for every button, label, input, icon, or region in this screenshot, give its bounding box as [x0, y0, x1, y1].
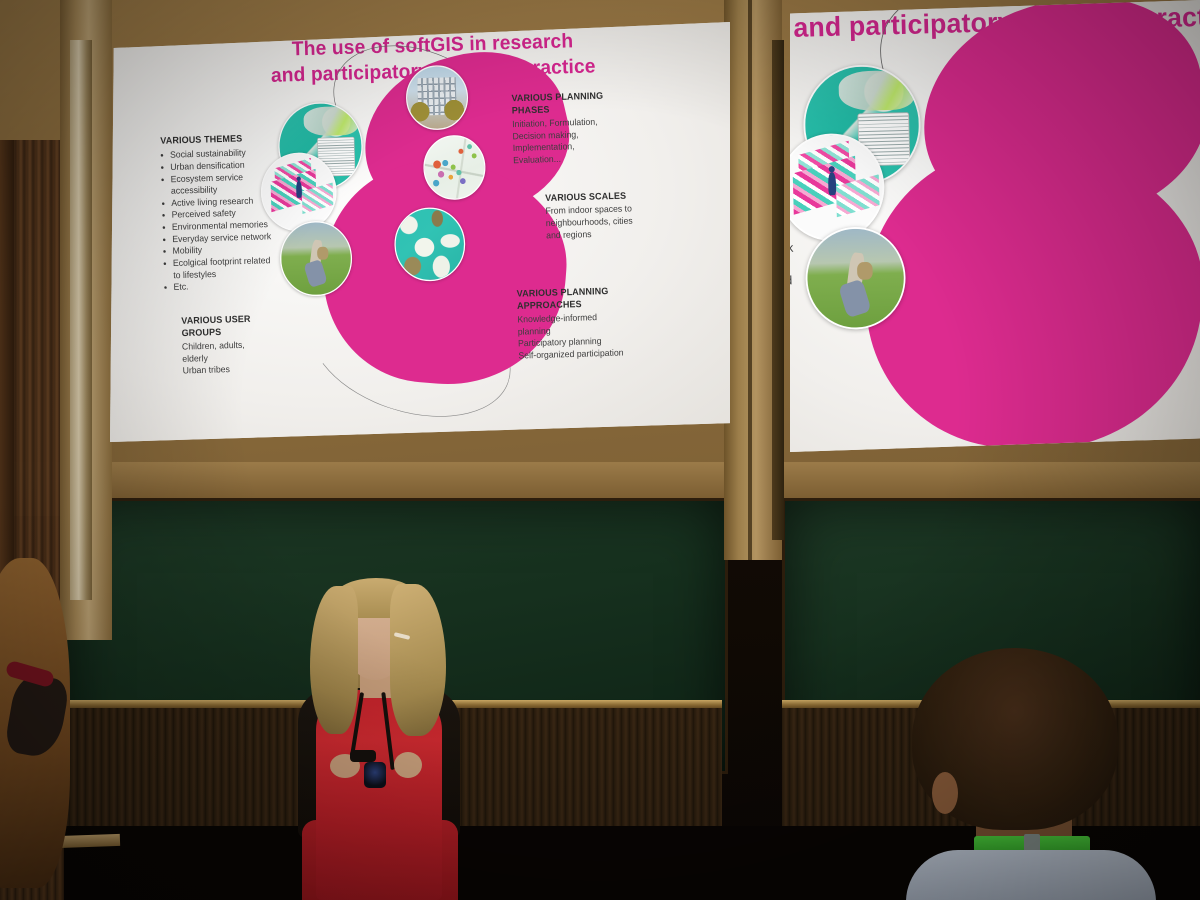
- block-various-themes: VARIOUS THEMES Social sustainability Urb…: [160, 132, 279, 293]
- tree-right: [443, 97, 465, 124]
- list-item: Ecosystem service accessibility: [170, 170, 276, 197]
- block-various-user-groups-right: VARIOUS USER GROUPS Children, adults, el…: [790, 351, 821, 439]
- block-various-scales: VARIOUS SCALES From indoor spaces to nei…: [545, 189, 670, 241]
- audience-member-foreground-right: [900, 648, 1160, 900]
- screen-right-surface: The use of softGIS in research and parti…: [790, 0, 1200, 452]
- slide-left: The use of softGIS in research and parti…: [113, 22, 730, 442]
- audience-member-foreground-left: [0, 558, 84, 900]
- scales-line: and regions: [546, 226, 670, 242]
- user-groups-line: Urban tribes: [182, 362, 291, 377]
- wood-panel-left-edge: [0, 140, 14, 620]
- block-various-planning-approaches: VARIOUS PLANNING APPROACHES Knowledge-in…: [517, 284, 671, 362]
- wall-column-left-trim: [70, 40, 92, 600]
- list-item: Ecosystem service accessibility: [790, 157, 801, 194]
- presenter: [282, 576, 472, 900]
- user-groups-line-right: Urban tribes: [790, 419, 821, 440]
- projection-screen-right: The use of softGIS in research and parti…: [790, 0, 1200, 452]
- map-detail-right: [838, 70, 914, 111]
- point-cluster-main: [433, 157, 471, 189]
- tree-left: [410, 99, 431, 124]
- list-item: Etc.: [790, 304, 804, 324]
- map-detail: [303, 106, 358, 137]
- runner-legs-right: [838, 279, 872, 319]
- runner-bag: [317, 247, 328, 260]
- list-item: Ecolgical footprint related to lifestyle…: [173, 254, 279, 281]
- themes-list: Social sustainability Urban densificatio…: [161, 146, 280, 293]
- presenter-hair-left: [310, 586, 358, 734]
- block-various-planning-phases: VARIOUS PLANNING PHASES Initiation, Form…: [511, 89, 646, 166]
- runner-legs: [304, 259, 328, 288]
- presenter-badge: [364, 762, 386, 788]
- phases-line: Evaluation...: [513, 150, 647, 166]
- presenter-remote-clicker: [350, 750, 376, 762]
- wall-column-centre-groove: [748, 0, 752, 560]
- circle-regional-teal-map: [393, 207, 466, 283]
- screen-left-surface: The use of softGIS in research and parti…: [110, 22, 730, 442]
- circle-point-density-map: [423, 134, 487, 200]
- wall-column-centre-edge: [772, 40, 784, 540]
- audience-right-ear: [932, 772, 958, 814]
- presentation-photo-scene: The use of softGIS in research and parti…: [0, 0, 1200, 900]
- list-item: Ecolgical footprint related to lifestyle…: [790, 272, 804, 309]
- runner-bag-right: [857, 262, 873, 280]
- circle-campus-building-photo: [405, 65, 469, 131]
- block-various-user-groups: VARIOUS USER GROUPS Children, adults, el…: [181, 312, 291, 376]
- slide-right: The use of softGIS in research and parti…: [790, 0, 1200, 452]
- projection-screen-left: The use of softGIS in research and parti…: [110, 22, 730, 442]
- presenter-hand-right: [394, 752, 422, 778]
- audience-right-shirt: [906, 850, 1156, 900]
- presenter-hair-right: [390, 584, 446, 736]
- region-landmasses: [395, 208, 465, 281]
